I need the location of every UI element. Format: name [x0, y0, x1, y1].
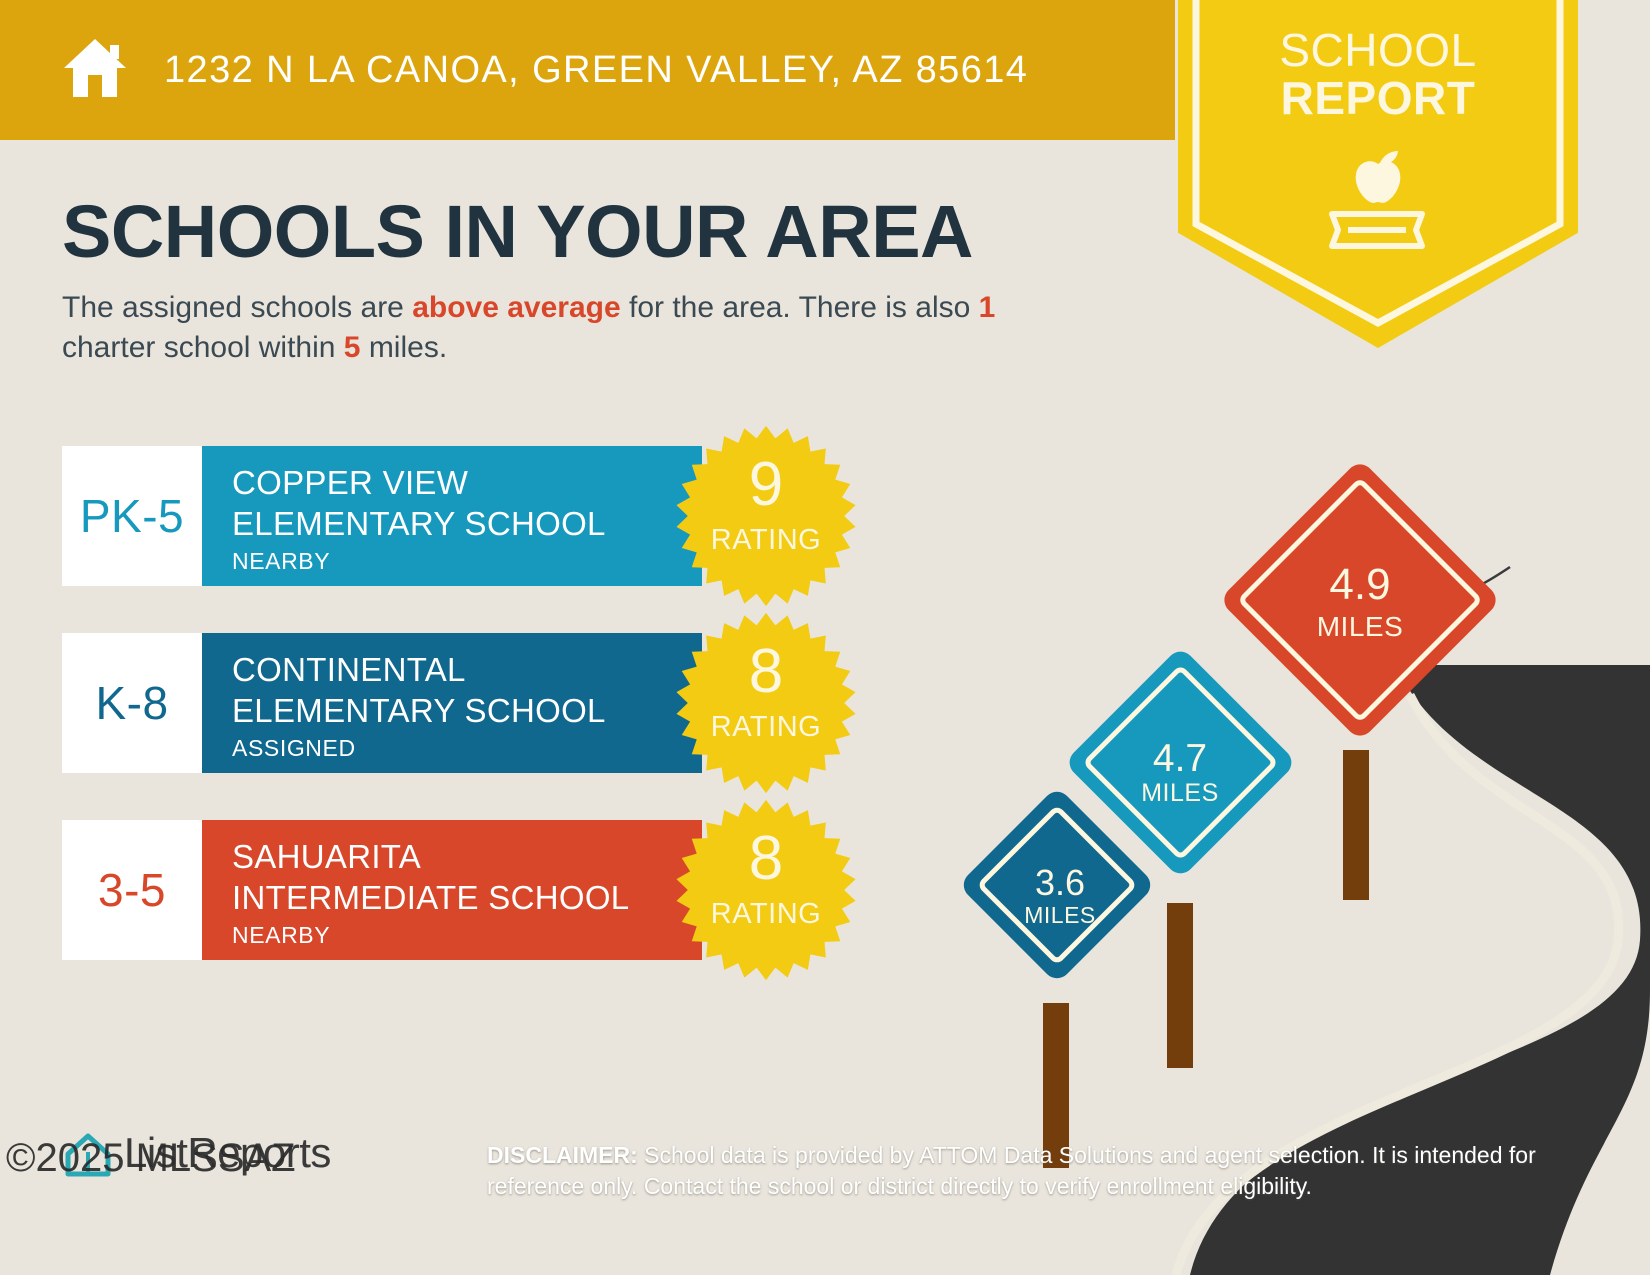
sign-distance-value: 4.7 — [1065, 736, 1295, 782]
school-report-badge: SCHOOL REPORT — [1178, 0, 1578, 348]
subtitle-highlight-rating: above average — [412, 291, 620, 324]
page-title: SCHOOLS IN YOUR AREA — [62, 190, 973, 274]
book-icon — [1332, 214, 1422, 246]
sign-post — [1343, 750, 1369, 900]
school-list: PK-5 COPPER VIEW ELEMENTARY SCHOOL NEARB… — [62, 446, 852, 1007]
sign-distance-unit: MILES — [960, 900, 1160, 930]
school-status-label: NEARBY — [232, 920, 702, 950]
rating-badge: 8 RATING — [674, 798, 858, 982]
disclaimer-label: DISCLAIMER: — [487, 1142, 638, 1168]
school-row[interactable]: PK-5 COPPER VIEW ELEMENTARY SCHOOL NEARB… — [62, 446, 852, 586]
rating-value: 9 — [674, 454, 858, 516]
school-info-bar: SAHUARITA INTERMEDIATE SCHOOL NEARBY — [202, 820, 702, 960]
subtitle-highlight-charter-count: 1 — [979, 291, 996, 324]
school-name-line2: ELEMENTARY SCHOOL — [232, 690, 702, 731]
school-row[interactable]: 3-5 SAHUARITA INTERMEDIATE SCHOOL NEARBY… — [62, 820, 852, 960]
school-name-line2: ELEMENTARY SCHOOL — [232, 503, 702, 544]
rating-value: 8 — [674, 828, 858, 890]
school-info-bar: COPPER VIEW ELEMENTARY SCHOOL NEARBY — [202, 446, 702, 586]
apple-icon — [1356, 151, 1401, 203]
subtitle-part1: The assigned schools are — [62, 291, 412, 324]
rating-badge: 9 RATING — [674, 424, 858, 608]
school-row[interactable]: K-8 CONTINENTAL ELEMENTARY SCHOOL ASSIGN… — [62, 633, 852, 773]
rating-caption: RATING — [674, 524, 858, 556]
rating-caption: RATING — [674, 898, 858, 930]
disclaimer-body: School data is provided by ATTOM Data So… — [487, 1142, 1536, 1199]
sign-distance-unit: MILES — [1230, 612, 1490, 642]
rating-badge: 8 RATING — [674, 611, 858, 795]
subtitle-highlight-radius: 5 — [344, 331, 361, 364]
sign-post — [1167, 903, 1193, 1068]
school-name-line2: INTERMEDIATE SCHOOL — [232, 877, 702, 918]
subtitle-part3: charter school within — [62, 331, 344, 364]
grade-range-box: PK-5 — [62, 446, 202, 586]
rating-caption: RATING — [674, 711, 858, 743]
school-info-bar: CONTINENTAL ELEMENTARY SCHOOL ASSIGNED — [202, 633, 702, 773]
badge-title: SCHOOL REPORT — [1178, 26, 1578, 122]
home-icon — [58, 31, 132, 110]
rating-value: 8 — [674, 641, 858, 703]
grade-range-label: K-8 — [95, 676, 168, 730]
grade-range-label: 3-5 — [98, 863, 166, 917]
badge-icon-group — [1178, 138, 1578, 261]
subtitle-part2: for the area. There is also — [621, 291, 979, 324]
property-address: 1232 N LA CANOA, GREEN VALLEY, AZ 85614 — [164, 49, 1028, 92]
school-name-line1: CONTINENTAL — [232, 649, 702, 690]
school-status-label: ASSIGNED — [232, 733, 702, 763]
mls-watermark: ©2025 MLSSAZ — [6, 1136, 296, 1181]
school-name-line1: COPPER VIEW — [232, 462, 702, 503]
grade-range-box: K-8 — [62, 633, 202, 773]
header-bar: 1232 N LA CANOA, GREEN VALLEY, AZ 85614 — [0, 0, 1175, 140]
sign-distance-value: 4.9 — [1230, 562, 1490, 608]
subtitle-part4: miles. — [360, 331, 447, 364]
school-name-line1: SAHUARITA — [232, 836, 702, 877]
page-subtitle: The assigned schools are above average f… — [62, 288, 1072, 368]
grade-range-box: 3-5 — [62, 820, 202, 960]
distance-sign: 3.6 MILES — [960, 788, 1160, 1178]
badge-title-line2: REPORT — [1178, 74, 1578, 122]
grade-range-label: PK-5 — [80, 489, 184, 543]
school-status-label: NEARBY — [232, 546, 702, 576]
badge-title-line1: SCHOOL — [1279, 24, 1476, 76]
disclaimer-text: DISCLAIMER: School data is provided by A… — [487, 1140, 1547, 1202]
